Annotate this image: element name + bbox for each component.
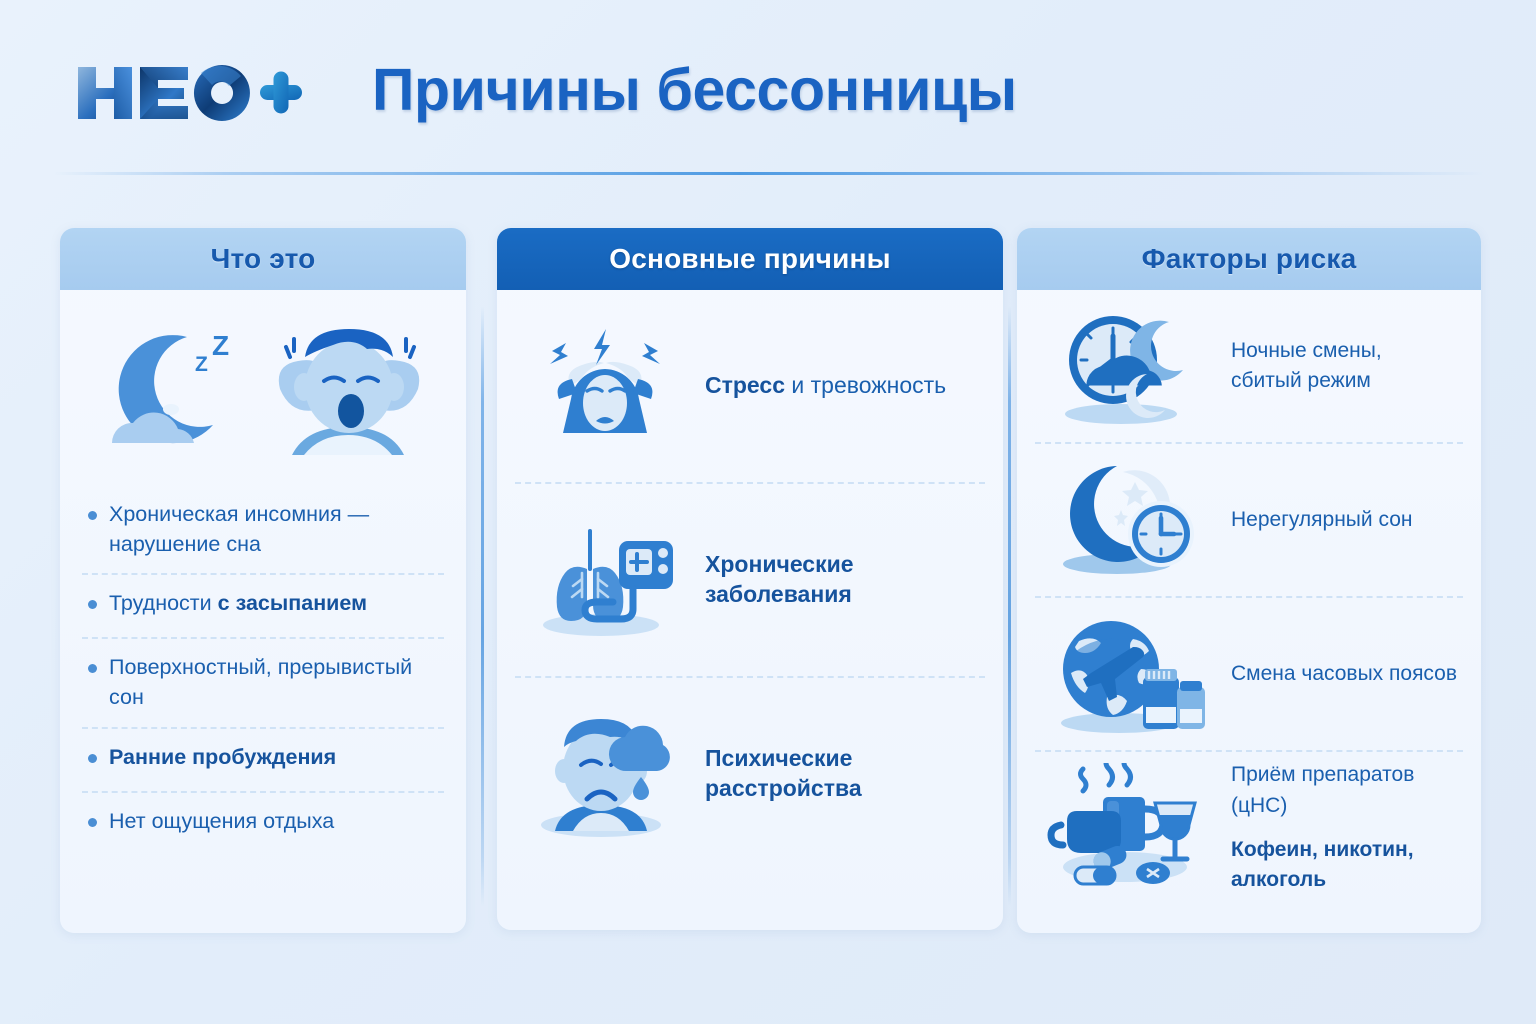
bullet-label: Трудности с засыпанием [109,589,367,619]
list-item: Поверхностный, прерывистый сон [82,637,444,726]
item-label-bold: Стресс [705,372,785,398]
card-main-causes-heading: Основные причины [497,228,1003,290]
item-label-plain: и тревожность [785,372,946,398]
card-what-is-it-body: Z Z [60,290,466,855]
svg-text:Z: Z [212,330,229,361]
list-item: Хроническая инсомния — нарушение сна [82,486,444,573]
risk-factors-list: Ночные смены,сбитый режим [1017,290,1481,904]
column-separator-1 [481,306,484,906]
bullet-dot-icon [88,754,97,763]
item-label: Стресс и тревожность [705,371,946,401]
card-main-causes: Основные причины [497,228,1003,930]
bullet-dot-icon [88,511,97,520]
list-item: Нерегулярный сон [1035,442,1463,596]
bullet-label: Поверхностный, прерывистый сон [109,653,444,712]
sad-face-rain-cloud-icon [521,707,689,841]
bullet-label: Хроническая инсомния — нарушение сна [109,500,444,559]
item-label-bold: Психические расстройства [705,745,862,801]
list-item: Нет ощущения отдыха [82,791,444,855]
list-item: Смена часовых поясов [1035,596,1463,750]
card-risk-factors-heading: Факторы риска [1017,228,1481,290]
item-label: Нерегулярный сон [1231,505,1412,535]
card-risk-factors: Факторы риска [1017,228,1481,933]
item-label-line2: Кофеин, никотин, алкоголь [1231,835,1459,896]
bullet-dot-icon [88,818,97,827]
list-item: Психические расстройства [515,676,985,870]
item-label-line1: Ночные смены, [1231,336,1382,366]
moon-stars-clock-icon [1039,458,1215,582]
bullet-dot-icon [88,600,97,609]
brand-logo [74,62,304,124]
stressed-head-icon [521,321,689,451]
bullet-dot-icon [88,664,97,673]
item-label-line2: сбитый режим [1231,366,1382,396]
list-item: Стресс и тревожность [515,290,985,482]
item-label-bold: Хронические заболевания [705,551,854,607]
column-separator-2 [1008,306,1011,906]
bullet-label: Нет ощущения отдыха [109,807,334,837]
sleeping-person-icon [264,313,434,463]
bullet-label: Ранние пробуждения [109,743,336,773]
moon-zzz-icon: Z Z [92,313,254,463]
card-what-is-it-heading: Что это [60,228,466,290]
card-what-is-it: Что это Z Z [60,228,466,933]
header-divider [54,172,1484,175]
bullet-label-bold: с засыпанием [218,591,367,615]
item-label: Хронические заболевания [705,550,979,610]
list-item: Хронические заболевания [515,482,985,676]
what-is-it-bullet-list: Хроническая инсомния — нарушение сна Тру… [60,478,466,855]
globe-plane-pills-icon [1039,611,1215,737]
item-label: Ночные смены,сбитый режим [1231,336,1382,397]
main-causes-list: Стресс и тревожность [497,290,1003,870]
item-label: Приём препаратов (цНС)Кофеин, никотин, а… [1231,760,1459,896]
hero-illustration: Z Z [60,290,466,478]
list-item: Приём препаратов (цНС)Кофеин, никотин, а… [1035,750,1463,904]
columns-board: Что это Z Z [0,228,1536,948]
clock-moon-icon [1039,304,1215,428]
list-item: Ранние пробуждения [82,727,444,791]
item-label: Психические расстройства [705,744,979,804]
list-item: Ночные смены,сбитый режим [1035,290,1463,442]
page-header: Причины бессонницы [0,0,1536,178]
list-item: Трудности с засыпанием [82,573,444,637]
item-label-line1: Приём препаратов (цНС) [1231,760,1459,821]
coffee-wine-pills-icon [1039,763,1215,893]
item-label: Смена часовых поясов [1231,659,1457,689]
svg-text:Z: Z [195,353,208,376]
bullet-label-plain: Трудности [109,591,218,615]
page-title: Причины бессонницы [372,56,1017,124]
lungs-blood-pressure-icon [521,517,689,643]
